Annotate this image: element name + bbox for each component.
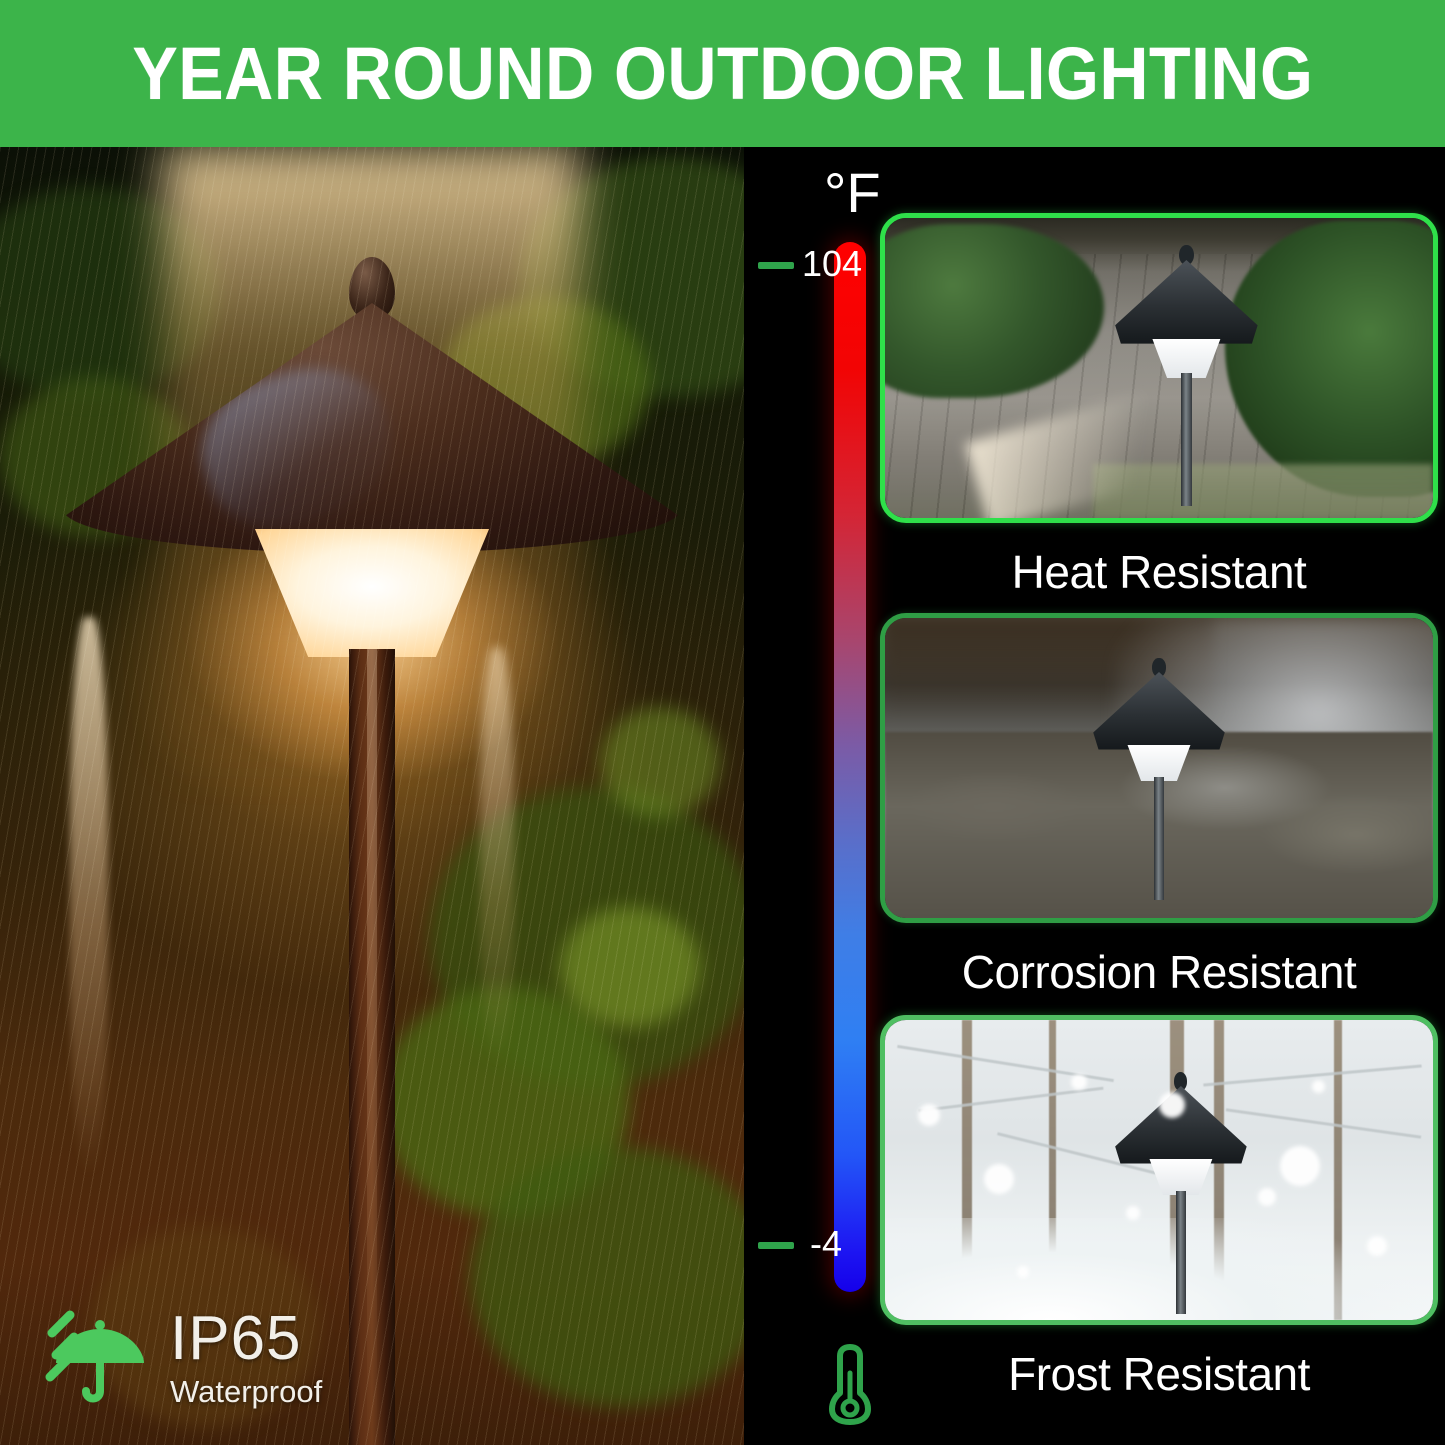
feature-label-frost: Frost Resistant [880,1347,1438,1401]
ip65-waterproof-badge: IP65 Waterproof [38,1295,340,1419]
lamp-shade [1115,260,1257,344]
snowflake [1312,1080,1325,1093]
feature-label-corrosion: Corrosion Resistant [880,945,1438,999]
deck-scene [885,218,1433,518]
path-light-in-snowy-forest-photo [880,1015,1438,1325]
thermometer-icon [826,1343,874,1425]
feature-card-heat[interactable]: Heat Resistant [880,213,1438,599]
snowflake [918,1104,940,1126]
degree-fahrenheit-label: °F [824,165,881,221]
path-light-mini [1093,672,1225,900]
path-light-on-sunny-deck-photo [880,213,1438,523]
path-light-mini [1115,260,1257,506]
tick-mark-high [758,262,794,269]
rain-overlay [0,147,744,1445]
feature-card-corrosion[interactable]: Corrosion Resistant [880,613,1438,999]
waterproof-label: Waterproof [170,1376,322,1407]
temperature-high-label: 104 [802,246,862,282]
page-title: YEAR ROUND OUTDOOR LIGHTING [132,31,1313,116]
lamp-pole [1176,1191,1187,1314]
feature-card-frost[interactable]: Frost Resistant [880,1015,1438,1401]
product-feature-infographic: YEAR ROUND OUTDOOR LIGHTING [0,0,1445,1445]
path-light-mini [1115,1086,1247,1314]
lamp-pole [1154,777,1165,900]
snowflake [1071,1074,1087,1090]
temperature-gradient-bar [834,242,866,1292]
snowflake [984,1164,1014,1194]
umbrella-rain-icon [42,1303,150,1411]
lamp-pole [1181,373,1192,506]
path-light-in-rocky-misty-terrain-photo [880,613,1438,923]
features-panel: °F 104 -4 [744,147,1445,1445]
snowy-branch [918,1087,1103,1113]
feature-label-heat: Heat Resistant [880,545,1438,599]
snowy-branch [1226,1108,1422,1138]
header-banner: YEAR ROUND OUTDOOR LIGHTING [0,0,1445,147]
tick-mark-low [758,1242,794,1249]
lamp-shade [1093,672,1225,750]
snowflake [1159,1092,1185,1118]
snow-forest-scene [885,1020,1433,1320]
hero-photo: IP65 Waterproof [0,147,744,1445]
ip65-text-group: IP65 Waterproof [170,1308,322,1407]
rocky-terrain-scene [885,618,1433,918]
snowflake [1126,1206,1140,1220]
temperature-low-label: -4 [810,1226,842,1262]
snowflake [1280,1146,1320,1186]
snowflake [1017,1266,1029,1278]
temperature-scale: °F 104 -4 [750,147,886,1445]
ip65-label: IP65 [170,1308,322,1370]
feature-card-list: Heat Resistant [880,147,1445,1445]
snowflake [1258,1188,1276,1206]
